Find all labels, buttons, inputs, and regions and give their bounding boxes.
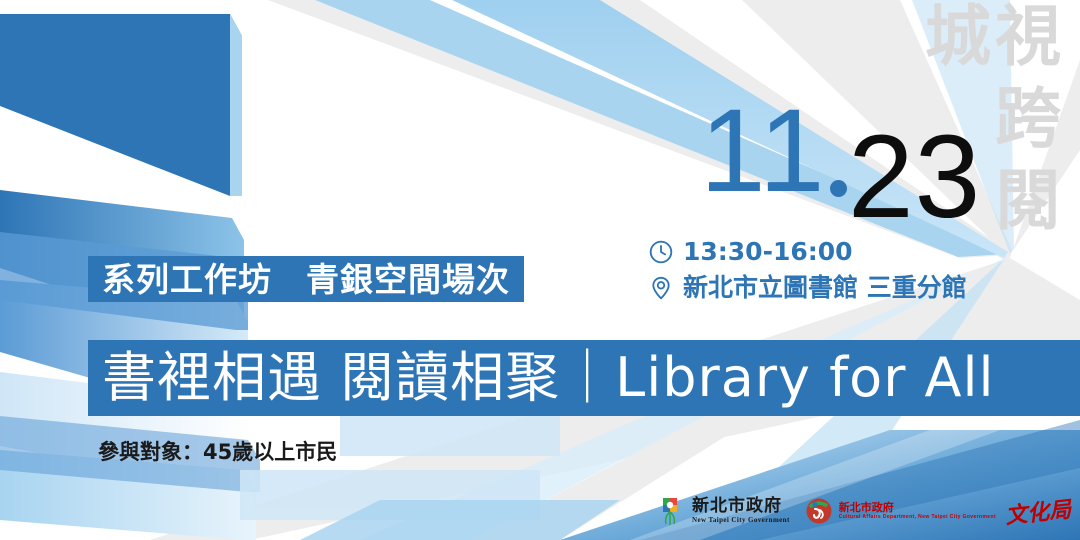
event-date: 11 23 <box>648 92 988 232</box>
date-separator-dot <box>830 180 847 197</box>
map-pin-icon <box>648 275 674 301</box>
culture-emblem-icon <box>806 498 832 524</box>
title-banner: 書裡相遇 閱讀相聚｜Library for All <box>88 340 1080 416</box>
event-poster: 城 視 跨 閱 11 23 13:30-16:00 新北市立圖書館 三重分館 系… <box>0 0 1080 540</box>
event-place-row: 新北市立圖書館 三重分館 <box>648 274 967 302</box>
event-place-text: 新北市立圖書館 三重分館 <box>683 274 967 302</box>
logo-new-taipei-city-government: 新北市政府 New Taipei City Government <box>655 495 790 527</box>
logo-culture-en: Cultural Affairs Department, New Taipei … <box>839 515 996 520</box>
watermark-char-2: 視 <box>995 4 1061 70</box>
logo-culture-script: 文化局 <box>1004 492 1073 531</box>
logo-cultural-affairs-department: 新北市政府 Cultural Affairs Department, New T… <box>806 495 1071 527</box>
watermark-char-1: 城 <box>925 4 991 70</box>
date-month: 11 <box>700 92 827 210</box>
audience-note: 參與對象：45歲以上市民 <box>98 436 337 466</box>
sponsor-logo-strip: 新北市政府 New Taipei City Government 新北市政府 C… <box>655 487 1080 535</box>
logo-culture-zh: 新北市政府 <box>839 502 996 513</box>
watermark-char-4: 閱 <box>995 168 1061 234</box>
subtitle-banner: 系列工作坊 青銀空間場次 <box>88 256 524 302</box>
clock-icon <box>648 239 674 265</box>
logo-gov-en: New Taipei City Government <box>692 517 790 524</box>
event-time-row: 13:30-16:00 <box>648 238 853 266</box>
date-day: 23 <box>848 118 981 236</box>
watermark-char-3: 跨 <box>995 86 1061 152</box>
event-time-text: 13:30-16:00 <box>683 238 853 266</box>
subtitle-text: 系列工作坊 青銀空間場次 <box>102 263 510 296</box>
title-text: 書裡相遇 閱讀相聚｜Library for All <box>102 351 995 405</box>
flower-emblem-icon <box>655 495 685 527</box>
logo-gov-zh: 新北市政府 <box>692 498 790 515</box>
